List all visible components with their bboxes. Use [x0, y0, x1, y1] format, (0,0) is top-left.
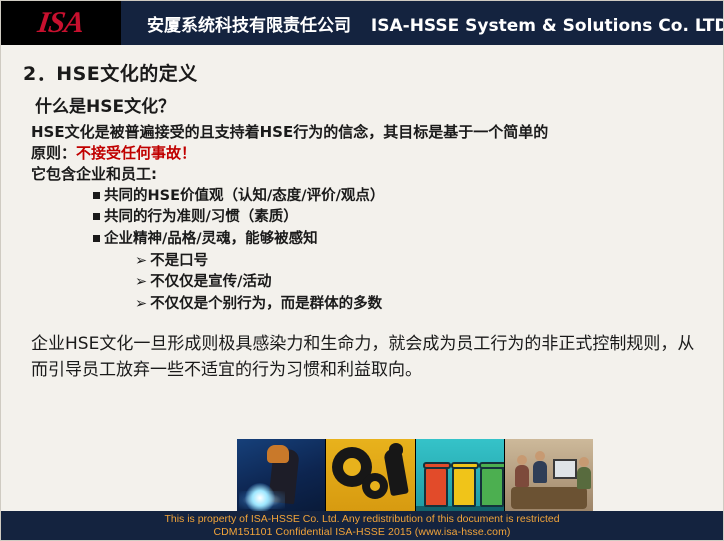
arrow-bullet-icon: ➢: [135, 251, 147, 272]
list-item-label: 共同的行为准则/习惯（素质）: [104, 209, 298, 225]
list-item: ➢不是口号: [135, 251, 707, 272]
person-shape: [577, 467, 591, 489]
office-meeting-photo: [505, 439, 593, 513]
welding-worker-photo: [237, 439, 326, 513]
isa-logo-text: ISA: [36, 6, 86, 40]
list-item-label: 企业精神/品格/灵魂，能够被感知: [104, 231, 318, 247]
section-heading: 2．HSE文化的定义: [23, 59, 707, 86]
slide-footer: This is property of ISA-HSSE Co. Ltd. An…: [1, 511, 723, 540]
list-item-label: 共同的HSE价值观（认知/态度/评价/观点）: [104, 188, 384, 204]
recycling-bins-illustration: [416, 439, 505, 513]
welder-helmet-shape: [267, 445, 289, 463]
table-shape: [511, 487, 587, 509]
person-shape: [533, 461, 547, 483]
recycle-bin-red: [424, 467, 448, 507]
arrow-bullet-icon: ➢: [135, 272, 147, 293]
list-item-label: 不仅仅是宣传/活动: [150, 274, 271, 290]
slide-header: ISA 安厦系统科技有限责任公司 ISA-HSSE System & Solut…: [1, 1, 724, 45]
slide-canvas: ISA 安厦系统科技有限责任公司 ISA-HSSE System & Solut…: [0, 0, 724, 541]
list-item-label: 不是口号: [150, 253, 208, 269]
recycle-bin-green: [480, 467, 504, 507]
section-subheading: 什么是HSE文化？: [35, 92, 707, 117]
arrow-bullet-icon: ➢: [135, 294, 147, 315]
square-bullet-icon: [93, 235, 100, 242]
definition-paragraph-3: 它包含企业和员工:: [31, 165, 707, 185]
list-item: ➢不仅仅是宣传/活动: [135, 272, 707, 293]
definition-paragraph-1: HSE文化是被普遍接受的且支持着HSE行为的信念，其目标是基于一个简单的: [31, 123, 707, 143]
image-strip: [237, 439, 593, 513]
gear-icon: [362, 473, 388, 499]
header-title-cn: 安厦系统科技有限责任公司: [147, 16, 351, 36]
recycle-bin-yellow: [452, 467, 476, 507]
footer-line-1: This is property of ISA-HSSE Co. Ltd. An…: [1, 513, 723, 526]
definition-paragraph-2: 原则：不接受任何事故！: [31, 144, 707, 164]
list-item: 共同的行为准则/习惯（素质）: [93, 207, 707, 228]
principle-emphasis: 不接受任何事故！: [76, 144, 196, 162]
footer-line-2: CDM151101 Confidential ISA-HSSE 2015 (ww…: [1, 526, 723, 539]
weld-spark-shape: [245, 483, 275, 513]
list-item: ➢不仅仅是个别行为，而是群体的多数: [135, 294, 707, 315]
list-item: 企业精神/品格/灵魂，能够被感知: [93, 229, 707, 250]
header-title-en: ISA-HSSE System & Solutions Co. LTD: [371, 16, 724, 36]
principle-label: 原则：: [31, 144, 76, 162]
square-bullet-icon: [93, 213, 100, 220]
header-title: 安厦系统科技有限责任公司 ISA-HSSE System & Solutions…: [147, 11, 724, 36]
square-bullet-icon: [93, 192, 100, 199]
closing-paragraph: 企业HSE文化一旦形成则极具感染力和生命力，就会成为员工行为的非正式控制规则，从…: [31, 332, 697, 383]
list-item: 共同的HSE价值观（认知/态度/评价/观点）: [93, 186, 707, 207]
gears-worker-illustration: [326, 439, 415, 513]
list-item-label: 不仅仅是个别行为，而是群体的多数: [150, 296, 382, 312]
person-shape: [515, 465, 529, 487]
isa-logo-icon: ISA: [1, 1, 121, 45]
monitor-shape: [553, 459, 577, 479]
